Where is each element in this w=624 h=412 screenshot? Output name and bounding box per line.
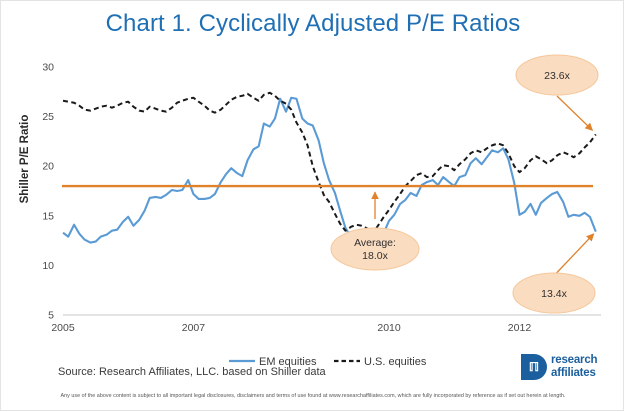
y-tick-label: 15 <box>42 210 54 222</box>
logo-line-2: affiliates <box>551 367 597 380</box>
x-tick-label: 2012 <box>508 322 532 334</box>
average-callout-label-line2: 18.0x <box>362 250 388 262</box>
y-tick-label: 30 <box>42 62 54 74</box>
us-end-callout-label: 23.6x <box>544 70 570 82</box>
legal-disclaimer: Any use of the above content is subject … <box>1 393 624 399</box>
chart-figure: Chart 1. Cyclically Adjusted P/E Ratios … <box>0 0 624 411</box>
y-tick-label: 20 <box>42 161 54 173</box>
source-note: Source: Research Affiliates, LLC. based … <box>58 366 326 378</box>
average-callout-bubble <box>331 228 419 270</box>
x-tick-label: 2010 <box>377 322 401 334</box>
research-affiliates-logo: ℿ research affiliates <box>521 354 617 380</box>
x-tick-label: 2005 <box>51 322 75 334</box>
chart-plot-area: 510152025302005200720102012Average:18.0x… <box>1 1 624 412</box>
legend-label-2: U.S. equities <box>364 356 427 368</box>
us-end-callout-leader <box>557 96 593 130</box>
y-tick-label: 10 <box>42 260 54 272</box>
em-end-callout-label: 13.4x <box>541 288 567 300</box>
logo-monogram-icon: ℿ <box>526 359 542 375</box>
x-tick-label: 2007 <box>182 322 206 334</box>
series-line-em-equities <box>63 98 596 255</box>
y-tick-label: 5 <box>48 310 54 322</box>
logo-wordmark: research affiliates <box>551 354 597 379</box>
y-tick-label: 25 <box>42 111 54 123</box>
average-callout-label-line1: Average: <box>354 237 396 249</box>
logo-mark-icon: ℿ <box>521 354 547 380</box>
logo-line-1: research <box>551 354 597 367</box>
